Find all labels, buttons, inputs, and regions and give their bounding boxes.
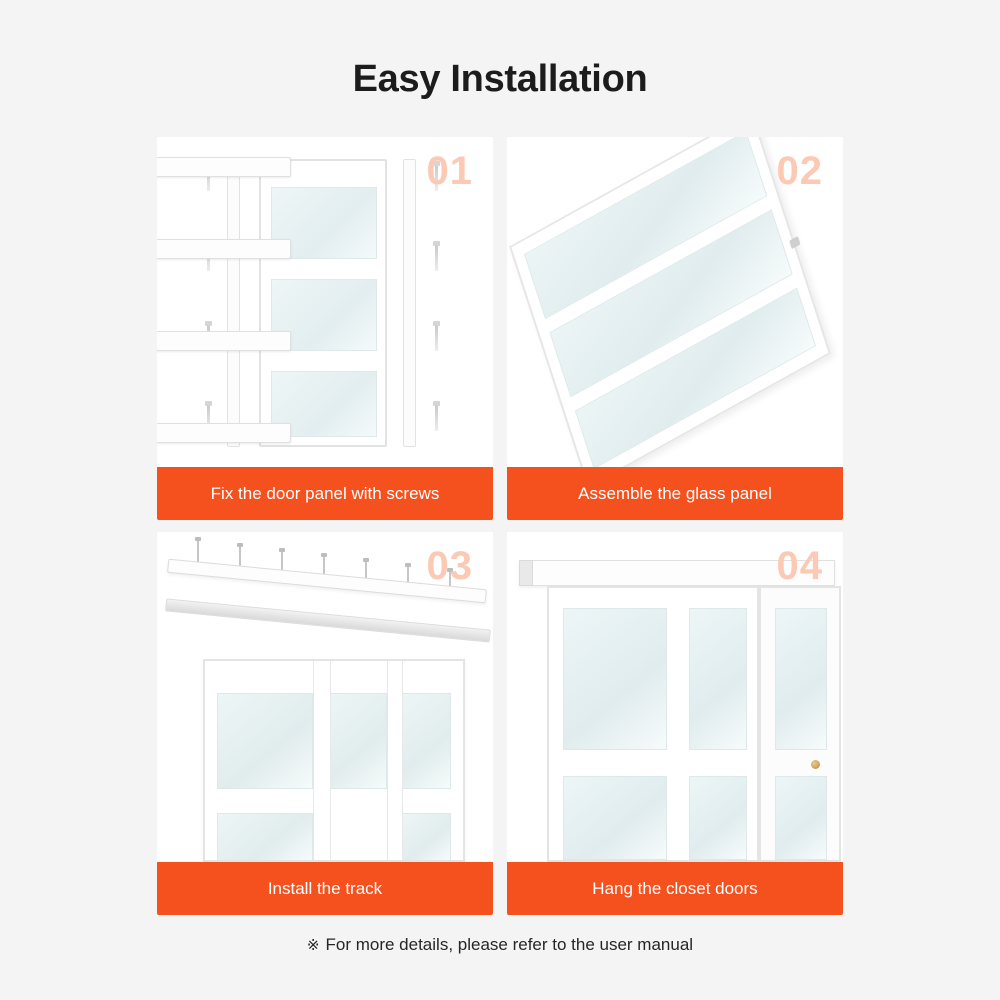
- glass-pane: [217, 693, 313, 789]
- glass-pane: [775, 608, 827, 750]
- track-bar-lower: [165, 598, 491, 642]
- glass-pane: [401, 693, 451, 789]
- door-knob: [811, 760, 820, 769]
- nail-icon: [197, 540, 199, 562]
- step-number: 02: [777, 149, 824, 194]
- step-number: 01: [427, 149, 474, 194]
- cross-rail: [157, 239, 291, 259]
- step-card-03: 03 Install the track: [157, 532, 493, 915]
- glass-pane: [563, 776, 667, 860]
- steps-grid: 01 Fix the door panel with screws 02 Ass…: [157, 137, 844, 915]
- closet-door-front: [547, 586, 759, 862]
- step-number: 03: [427, 544, 474, 589]
- cross-rail: [157, 423, 291, 443]
- glass-pane: [329, 693, 387, 789]
- door-panel: [259, 159, 387, 447]
- cross-rail: [157, 157, 291, 177]
- step-card-02: 02 Assemble the glass panel: [507, 137, 843, 520]
- glass-pane: [217, 813, 313, 861]
- footnote-text: For more details, please refer to the us…: [326, 935, 694, 954]
- glass-pane: [401, 813, 451, 861]
- step-card-01: 01 Fix the door panel with screws: [157, 137, 493, 520]
- glass-pane: [689, 608, 747, 750]
- door-stile: [387, 661, 403, 860]
- glass-pane: [689, 776, 747, 860]
- door-stile: [313, 661, 331, 860]
- step-caption: Hang the closet doors: [507, 862, 843, 915]
- glass-pane: [563, 608, 667, 750]
- screw-icon: [435, 405, 438, 431]
- step-caption: Install the track: [157, 862, 493, 915]
- glass-pane: [775, 776, 827, 860]
- screw-icon: [435, 245, 438, 271]
- screw-icon: [435, 325, 438, 351]
- asterisk-icon: ※: [307, 937, 320, 954]
- step-caption: Assemble the glass panel: [507, 467, 843, 520]
- step-caption: Fix the door panel with screws: [157, 467, 493, 520]
- step-number: 04: [777, 544, 824, 589]
- right-post: [403, 159, 416, 447]
- step-card-04: 04 Hang the closet doors: [507, 532, 843, 915]
- left-post: [227, 159, 240, 447]
- track-end-cap: [519, 560, 533, 586]
- installation-guide-page: Easy Installation: [0, 0, 1000, 1000]
- door-panel: [203, 659, 465, 862]
- cross-rail: [157, 331, 291, 351]
- page-title: Easy Installation: [0, 58, 1000, 101]
- closet-door-back: [759, 586, 841, 862]
- footnote: ※For more details, please refer to the u…: [0, 935, 1000, 955]
